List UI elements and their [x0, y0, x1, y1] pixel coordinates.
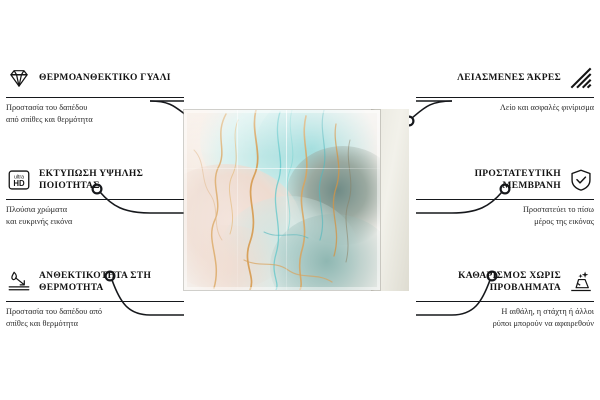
feature-description: Προστασία του δαπέδου απόσπίθες και θερμ…: [6, 306, 184, 329]
feature-high-quality-print: ultra HD ΕΚΤΥΠΩΣΗ ΥΨΗΛΗΣ ΠΟΙΟΤΗΤΑΣ Πλούσ…: [6, 164, 184, 227]
divider: [416, 199, 594, 200]
feature-heat-durability: ΑΝΘΕΚΤΙΚΟΤΗΤΑ ΣΤΗ ΘΕΡΜΟΤΗΤΑ Προστασία το…: [6, 266, 184, 329]
feature-easy-cleaning: ΚΑΘΑΡΙΣΜΟΣ ΧΩΡΙΣ ΠΡΟΒΛΗΜΑΤΑ Η αιθάλη, η …: [416, 266, 594, 329]
diamond-icon: [6, 65, 32, 91]
divider: [416, 97, 594, 98]
feature-title: ΛΕΙΑΣΜΕΝΕΣ ΆΚΡΕΣ: [457, 72, 561, 85]
feature-title: ΑΝΘΕΚΤΙΚΟΤΗΤΑ ΣΤΗ ΘΕΡΜΟΤΗΤΑ: [39, 270, 184, 295]
feature-polished-edges: ΛΕΙΑΣΜΕΝΕΣ ΆΚΡΕΣ Λείο και ασφαλές φινίρι…: [416, 62, 594, 114]
polished-edge-icon: [568, 65, 594, 91]
divider: [6, 301, 184, 302]
svg-text:HD: HD: [13, 179, 25, 188]
divider: [416, 301, 594, 302]
glass-panel: [184, 110, 380, 290]
feature-description: Η αιθάλη, η στάχτη ή άλλοιρύποι μπορούν …: [416, 306, 594, 329]
product-image: [184, 110, 400, 290]
feature-heat-resistant-glass: ΘΕΡΜΟΑΝΘΕΚΤΙΚΟ ΓΥΑΛΙ Προστασία του δαπέδ…: [6, 62, 184, 125]
feature-description: Πλούσια χρώματακαι ευκρινής εικόνα: [6, 204, 184, 227]
feature-title: ΚΑΘΑΡΙΣΜΟΣ ΧΩΡΙΣ ΠΡΟΒΛΗΜΑΤΑ: [416, 270, 561, 295]
divider: [6, 199, 184, 200]
feature-description: Προστατεύει το πίσωμέρος της εικόνας: [416, 204, 594, 227]
feature-description: Λείο και ασφαλές φινίρισμα: [416, 102, 594, 114]
shield-check-icon: [568, 167, 594, 193]
feature-title: ΠΡΟΣΤΑΤΕΥΤΙΚΗ ΜΕΜΒΡΑΝΗ: [416, 168, 561, 193]
feature-title: ΕΚΤΥΠΩΣΗ ΥΨΗΛΗΣ ΠΟΙΟΤΗΤΑΣ: [39, 168, 184, 193]
infographic-canvas: ΘΕΡΜΟΑΝΘΕΚΤΙΚΟ ΓΥΑΛΙ Προστασία του δαπέδ…: [0, 0, 600, 400]
flame-deflect-icon: [6, 269, 32, 295]
feature-protective-membrane: ΠΡΟΣΤΑΤΕΥΤΙΚΗ ΜΕΜΒΡΑΝΗ Προστατεύει το πί…: [416, 164, 594, 227]
divider: [6, 97, 184, 98]
feature-description: Προστασία του δαπέδουαπό σπίθες και θερμ…: [6, 102, 184, 125]
feature-title: ΘΕΡΜΟΑΝΘΕΚΤΙΚΟ ΓΥΑΛΙ: [39, 72, 171, 85]
ultra-hd-icon: ultra HD: [6, 167, 32, 193]
sparkle-clean-icon: [568, 269, 594, 295]
